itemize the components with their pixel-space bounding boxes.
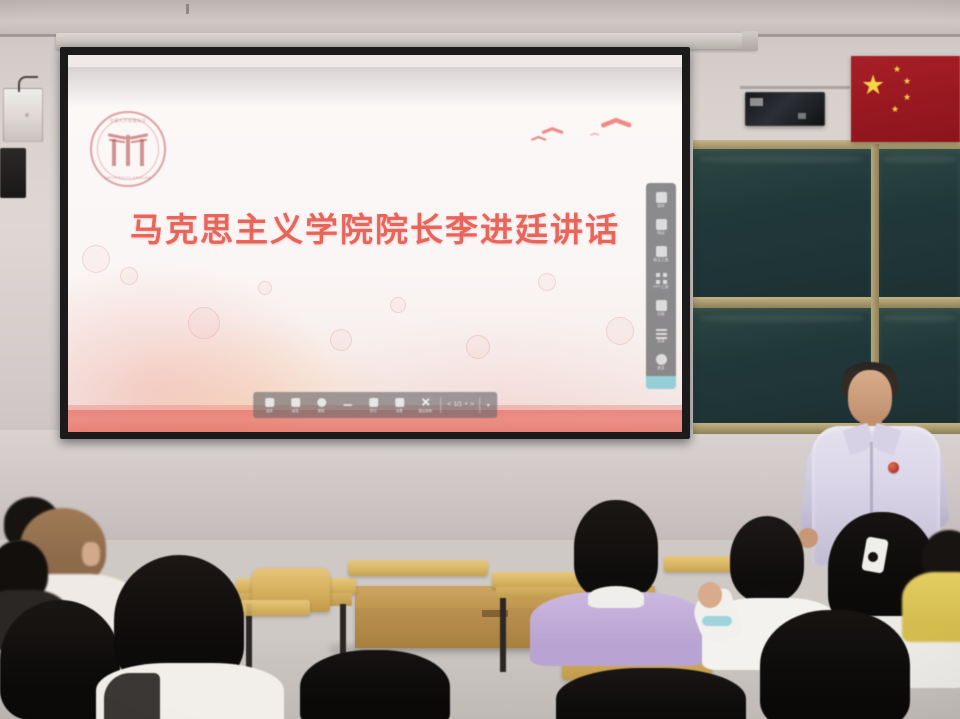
slide-navigation[interactable]: < 1/1 • >: [443, 402, 477, 408]
save-icon: [656, 192, 667, 203]
bird-icon: [590, 132, 600, 137]
student-hair: [760, 610, 910, 719]
speaker-head: [848, 370, 892, 424]
student-front-center-2: [556, 668, 756, 719]
toolbar-item-label: PPT工具: [653, 285, 668, 290]
toolbar-more-button[interactable]: 更多: [646, 349, 676, 376]
toolbar-annotate-button[interactable]: 批注工具: [646, 241, 676, 268]
tool-label: 擦除: [318, 408, 325, 413]
flag-star-small: ★: [903, 77, 911, 86]
toolbar-ppt-tools-button[interactable]: PPT工具: [646, 268, 676, 295]
close-icon: [421, 398, 430, 407]
wall-display-panel: [745, 92, 825, 126]
presentation-floating-toolbar[interactable]: 选择 画笔 擦除 剪切: [253, 392, 497, 418]
toolbar-item-label: 批注工具: [653, 258, 668, 263]
panel-cable: [18, 76, 38, 92]
flag-star-large: ★: [861, 72, 885, 99]
student-hair: [556, 668, 746, 719]
blackboard-panel: [879, 149, 960, 297]
blackboard-chalk-rail: [693, 297, 960, 308]
student-wristband: [702, 616, 732, 626]
classroom-photo: ★ ★ ★ ★ ★: [0, 0, 960, 719]
projector-screen-housing-cap: [742, 31, 758, 51]
more-icon: [656, 354, 667, 365]
gear-icon: [395, 398, 404, 407]
student-desk: [348, 560, 488, 620]
tool-eraser-button[interactable]: 擦除: [308, 392, 334, 418]
hoodie-collar: [588, 586, 644, 608]
tool-label: 设置: [396, 408, 403, 413]
emblem-book-mark: [107, 131, 149, 167]
toolbar-catalog-button[interactable]: 目录: [646, 322, 676, 349]
projection-screen[interactable]: 中国大学校徽标志 UNIVERSITY EMBLEM 马克思: [60, 47, 690, 439]
decorative-bubble: [258, 281, 272, 295]
line-icon: [343, 404, 352, 406]
toolbar-item-label: 目录: [657, 339, 665, 344]
projection-screen-surface: 中国大学校徽标志 UNIVERSITY EMBLEM 马克思: [68, 55, 682, 432]
panel-knob: [25, 113, 29, 117]
university-emblem-icon: 中国大学校徽标志 UNIVERSITY EMBLEM: [90, 111, 166, 187]
slide-top-shading: [68, 67, 682, 107]
toolbar-item-label: 白板: [657, 312, 665, 317]
blackboard-panel: [693, 149, 871, 297]
grid-icon: [656, 273, 667, 284]
tool-cursor-button[interactable]: 选择: [256, 392, 282, 418]
toolbar-whiteboard-button[interactable]: 白板: [646, 295, 676, 322]
flag-star-small: ★: [893, 65, 901, 74]
ceiling-band: [0, 0, 960, 36]
decorative-bubble: [466, 335, 490, 359]
emblem-top-text: 中国大学校徽标志: [90, 118, 166, 124]
toolbar-divider: [440, 397, 441, 413]
wall-rail: [740, 86, 850, 89]
tool-scissors-button[interactable]: 剪切: [360, 392, 386, 418]
student-hair: [300, 650, 450, 719]
eraser-icon: [317, 398, 326, 407]
slide-dot-icon: •: [465, 402, 467, 408]
decorative-bubble: [330, 329, 352, 351]
flag-star-small: ★: [903, 93, 911, 102]
tool-label: 选择: [266, 408, 273, 413]
student-front-left-2: [96, 555, 276, 719]
presentation-slide: 中国大学校徽标志 UNIVERSITY EMBLEM 马克思: [68, 67, 682, 432]
decorative-bubble: [538, 273, 556, 291]
display-glint: [750, 98, 763, 106]
display-glint-secondary: [798, 113, 806, 119]
tool-pen-button[interactable]: 画笔: [282, 392, 308, 418]
student-hand: [698, 582, 722, 608]
bird-icon: [531, 134, 548, 142]
tool-settings-button[interactable]: 设置: [386, 392, 412, 418]
toolbar-divider: [480, 397, 481, 413]
prev-slide-button[interactable]: <: [447, 402, 451, 408]
tool-exit-button[interactable]: 退出放映: [412, 392, 438, 418]
decorative-bubble: [188, 307, 220, 339]
slide-title: 马克思主义学院院长李进廷讲话: [68, 203, 682, 251]
speaker-badge-pin: [888, 462, 899, 473]
desk-leg: [500, 598, 506, 672]
desk-top: [348, 560, 488, 576]
toolbar-item-label: 导出: [657, 231, 665, 236]
hair-clip-detail: [868, 552, 878, 562]
export-icon: [656, 219, 667, 230]
toolbar-save-button[interactable]: 保存: [646, 187, 676, 214]
tool-label: 退出放映: [418, 408, 432, 413]
list-icon: [656, 327, 667, 338]
tool-line-button[interactable]: [334, 392, 360, 418]
whiteboard-side-toolbar[interactable]: 保存 导出 批注工具 PPT工具: [646, 183, 676, 389]
shield-icon: [656, 300, 667, 311]
decorative-bubble: [120, 267, 138, 285]
toolbar-item-label: 更多: [657, 366, 665, 371]
flag-star-small: ★: [891, 105, 899, 114]
student-front-center: [300, 650, 460, 719]
student-arm: [104, 673, 160, 719]
pen-icon: [291, 398, 300, 407]
chevron-down-icon[interactable]: ▾: [487, 402, 490, 409]
emblem-bottom-text: UNIVERSITY EMBLEM: [90, 176, 166, 180]
bird-icon: [541, 125, 564, 136]
cursor-icon: [265, 398, 274, 407]
next-slide-button[interactable]: >: [470, 402, 474, 408]
scissors-icon: [369, 398, 378, 407]
tool-label: 画笔: [292, 408, 299, 413]
page-indicator: 1/1: [454, 402, 462, 408]
tool-label: 剪切: [370, 408, 377, 413]
student-center-ponytail: [536, 500, 696, 670]
decorative-bubble: [606, 317, 634, 345]
decorative-bubble: [390, 297, 406, 313]
toolbar-footer-accent: [646, 376, 676, 389]
student-front-right: [760, 610, 940, 719]
ceiling-bolt: [186, 4, 189, 14]
toolbar-export-button[interactable]: 导出: [646, 214, 676, 241]
toolbar-item-label: 保存: [657, 204, 665, 209]
china-flag: ★ ★ ★ ★ ★: [851, 56, 960, 142]
toolbar-overflow-menu[interactable]: ▾: [483, 402, 494, 409]
wall-speaker: [0, 148, 26, 198]
bird-icon: [601, 115, 634, 130]
electrical-panel-box: [3, 88, 43, 142]
annotate-icon: [656, 246, 667, 257]
flying-birds-decoration: [528, 113, 658, 155]
